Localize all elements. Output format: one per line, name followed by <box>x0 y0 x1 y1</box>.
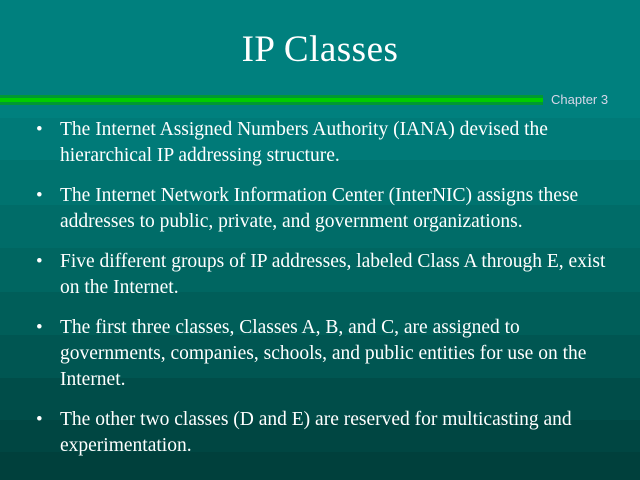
list-item: • Five different groups of IP addresses,… <box>28 249 620 301</box>
page-title: IP Classes <box>0 28 640 72</box>
bullet-list: • The Internet Assigned Numbers Authorit… <box>28 117 620 459</box>
bullet-dot-icon: • <box>28 117 60 143</box>
green-divider-rule <box>0 95 543 106</box>
list-item: • The Internet Network Information Cente… <box>28 183 620 235</box>
list-item-text: The first three classes, Classes A, B, a… <box>60 315 620 393</box>
divider-band-bottom <box>0 102 543 105</box>
bullet-dot-icon: • <box>28 407 60 433</box>
list-item-text: The Internet Assigned Numbers Authority … <box>60 117 620 169</box>
bullet-dot-icon: • <box>28 249 60 275</box>
list-item: • The Internet Assigned Numbers Authorit… <box>28 117 620 169</box>
bullet-dot-icon: • <box>28 315 60 341</box>
title-area: IP Classes <box>0 28 640 72</box>
presentation-slide: IP Classes Chapter 3 • The Internet Assi… <box>0 0 640 480</box>
list-item: • The other two classes (D and E) are re… <box>28 407 620 459</box>
bullet-dot-icon: • <box>28 183 60 209</box>
list-item-text: The other two classes (D and E) are rese… <box>60 407 620 459</box>
list-item: • The first three classes, Classes A, B,… <box>28 315 620 393</box>
list-item-text: The Internet Network Information Center … <box>60 183 620 235</box>
list-item-text: Five different groups of IP addresses, l… <box>60 249 620 301</box>
chapter-label: Chapter 3 <box>551 92 608 108</box>
